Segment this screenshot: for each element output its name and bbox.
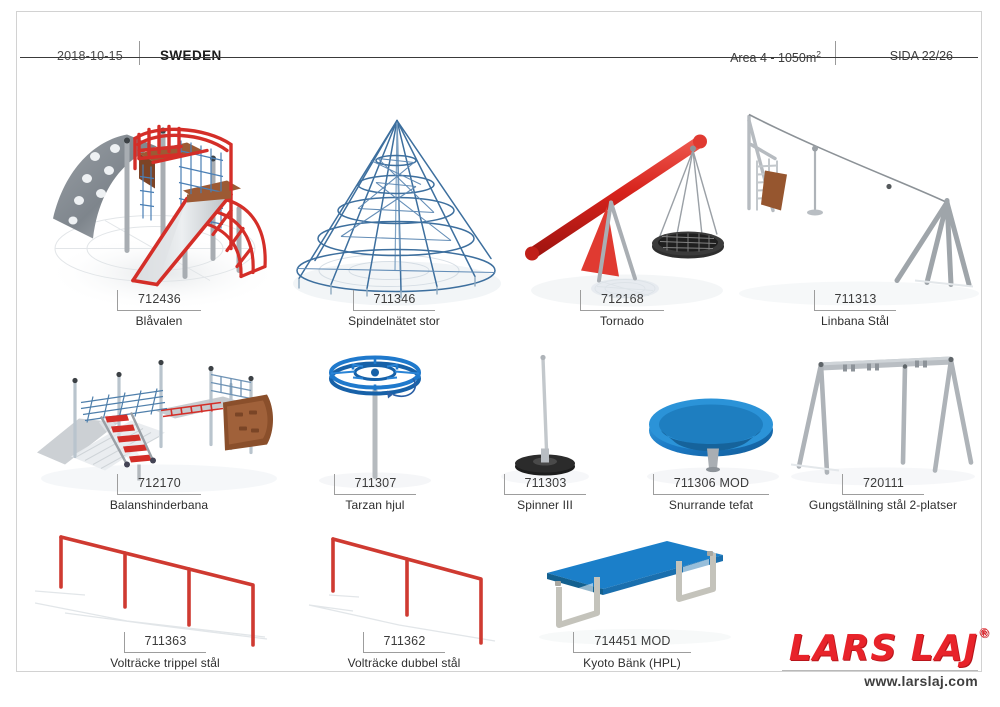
product-caption: 711303 Spinner III <box>469 474 621 512</box>
product-grid: 712436 Blåvalen <box>17 60 981 660</box>
product-caption: 711346 Spindelnätet stor <box>279 290 509 328</box>
product-code: 712168 <box>595 292 650 306</box>
product-name: Linbana Stål <box>729 314 981 328</box>
product-cell[interactable]: 712168 Tornado <box>507 82 737 330</box>
product-code: 711306 MOD <box>668 476 755 490</box>
product-name: Blåvalen <box>35 314 283 328</box>
header-rule <box>20 57 978 58</box>
product-cell[interactable]: 714451 MOD Kyoto Bänk (HPL) <box>517 510 747 670</box>
product-code: 712170 <box>132 476 187 490</box>
product-code-box: 711362 <box>363 632 446 653</box>
product-code: 711346 <box>368 292 422 306</box>
product-code-box: 711363 <box>124 632 207 653</box>
product-name: Spindelnätet stor <box>279 314 509 328</box>
product-caption: 711313 Linbana Stål <box>729 290 981 328</box>
product-code-box: 712168 <box>580 290 664 311</box>
product-code-box: 720111 <box>842 474 924 495</box>
product-code: 711313 <box>829 292 883 306</box>
logo-url: www.larslaj.com <box>778 673 978 689</box>
product-code-box: 711346 <box>353 290 436 311</box>
product-code-box: 712170 <box>117 474 201 495</box>
product-cell[interactable]: 711313 Linbana Stål <box>729 82 981 330</box>
product-caption: 712170 Balanshinderbana <box>35 474 283 512</box>
product-cell[interactable]: 711362 Volträcke dubbel stål <box>289 510 519 670</box>
product-cell[interactable]: 711346 Spindelnätet stor <box>279 82 509 330</box>
product-name: Gungställning stål 2-platser <box>785 498 981 512</box>
product-name: Tornado <box>507 314 737 328</box>
product-caption: 711306 MOD Snurrande tefat <box>621 474 801 512</box>
logo-wordmark-text: LARS LAJ <box>789 628 978 669</box>
product-caption: 720111 Gungställning stål 2-platser <box>785 474 981 512</box>
product-name: Volträcke trippel stål <box>35 656 295 670</box>
registered-trademark-icon: ® <box>978 627 991 639</box>
product-code: 712436 <box>132 292 187 306</box>
product-caption: 711307 Tarzan hjul <box>289 474 461 512</box>
product-code: 711362 <box>378 634 432 648</box>
product-name: Volträcke dubbel stål <box>289 656 519 670</box>
product-code-box: 711313 <box>814 290 897 311</box>
product-caption: 714451 MOD Kyoto Bänk (HPL) <box>517 632 747 670</box>
product-caption: 711362 Volträcke dubbel stål <box>289 632 519 670</box>
product-cell[interactable]: 712436 Blåvalen <box>35 82 283 330</box>
product-cell[interactable]: 711363 Volträcke trippel stål <box>35 510 295 670</box>
product-code-box: 711303 <box>504 474 587 495</box>
product-cell[interactable]: 711306 MOD Snurrande tefat <box>621 332 801 507</box>
logo-divider <box>782 670 978 671</box>
page-header: 2018-10-15 SWEDEN Area 4 - 1050m2 SIDA 2… <box>17 12 981 57</box>
product-caption: 711363 Volträcke trippel stål <box>35 632 295 670</box>
product-cell[interactable]: 711303 Spinner III <box>469 332 621 507</box>
product-caption: 712436 Blåvalen <box>35 290 283 328</box>
product-code: 714451 MOD <box>588 634 676 648</box>
product-cell[interactable]: 712170 Balanshinderbana <box>35 332 283 507</box>
product-code-box: 714451 MOD <box>573 632 690 653</box>
product-code: 720111 <box>857 476 910 490</box>
product-name: Kyoto Bänk (HPL) <box>517 656 747 670</box>
product-code-box: 711307 <box>334 474 417 495</box>
product-cell[interactable]: 711307 Tarzan hjul <box>289 332 461 507</box>
product-caption: 712168 Tornado <box>507 290 737 328</box>
logo-wordmark: LARS LAJ® <box>789 631 978 667</box>
product-code-box: 711306 MOD <box>653 474 769 495</box>
product-code: 711363 <box>139 634 193 648</box>
catalogue-page: 2018-10-15 SWEDEN Area 4 - 1050m2 SIDA 2… <box>0 0 1000 707</box>
product-cell[interactable]: 720111 Gungställning stål 2-platser <box>785 332 981 507</box>
brand-logo: LARS LAJ® www.larslaj.com <box>778 631 978 689</box>
product-code: 711307 <box>349 476 403 490</box>
product-code-box: 712436 <box>117 290 201 311</box>
product-code: 711303 <box>519 476 573 490</box>
